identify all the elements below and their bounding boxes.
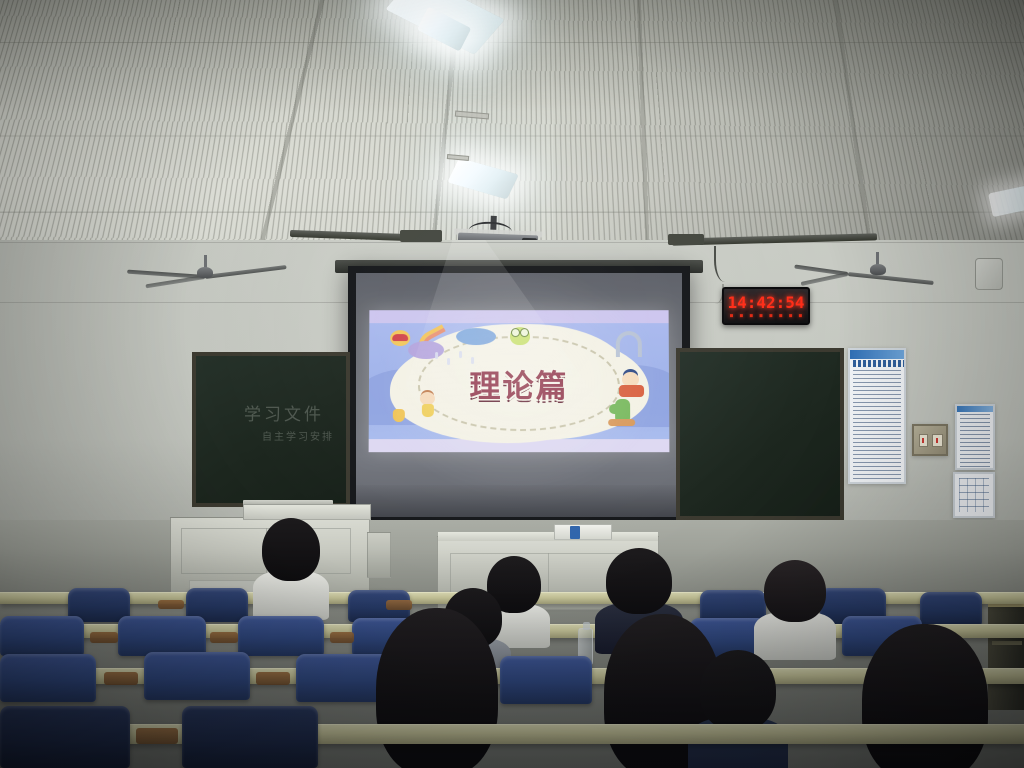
clock-indicator: ■ [730, 313, 733, 319]
seat[interactable] [500, 656, 592, 704]
purple-cloud-icon [408, 341, 444, 359]
ceiling [0, 0, 1024, 246]
rail-bracket [668, 234, 704, 245]
seat[interactable] [144, 652, 250, 700]
cabinet-top-surface [438, 532, 658, 541]
desk-tablet [256, 672, 290, 685]
fan-blade [205, 265, 287, 279]
blue-cloud-icon [456, 328, 496, 345]
podium-side-panel [367, 532, 391, 578]
frog-icon [510, 327, 530, 345]
raindrop-icon [459, 351, 462, 358]
clock-indicator: ■ [799, 313, 802, 319]
badge-icon [390, 329, 410, 345]
clock-indicator: ■ [760, 313, 763, 319]
poster-table-grid [959, 478, 989, 512]
raindrop-icon [435, 352, 438, 359]
ceiling-fan-right [800, 252, 955, 288]
seat[interactable] [0, 616, 84, 656]
rail-bracket [400, 230, 442, 242]
digital-clock: 14:42:54 ■ ■ ■ ■ ■ ■ ■ ■ [722, 287, 810, 325]
ceiling-fan-left [125, 255, 285, 291]
ceiling-shadow-top [0, 0, 1024, 113]
desk-tablet [104, 672, 138, 685]
fan-blade [145, 275, 205, 288]
fan-blade [801, 272, 849, 286]
classroom-scene: 理论篇 14:42:54 ■ ■ ■ ■ ■ ■ ■ ■ 学习文件 自主学习安排 [0, 0, 1024, 768]
outlet-slot [936, 438, 938, 443]
screen-lower-shadow [356, 485, 682, 517]
person-head [764, 560, 826, 622]
person-head [262, 518, 320, 581]
person-head [606, 548, 672, 614]
blackboard-left: 学习文件 自主学习安排 [192, 352, 350, 507]
desk-tablet [136, 728, 178, 744]
seat[interactable] [920, 592, 982, 626]
desk-tablet [330, 632, 354, 643]
seat[interactable] [0, 654, 96, 702]
fan-blade [848, 272, 934, 285]
seat[interactable] [238, 616, 324, 656]
poster-body-text [960, 414, 990, 470]
lamp-icon [393, 409, 405, 422]
seat[interactable] [118, 616, 206, 656]
wall-outlet-panel[interactable] [912, 424, 948, 456]
blackboard-right [676, 348, 844, 520]
white-box-on-cabinet [554, 524, 612, 540]
clock-indicator: ■ [750, 313, 753, 319]
arch-rainbow-icon [616, 331, 642, 357]
student-person [376, 608, 498, 768]
seat[interactable] [182, 706, 318, 768]
slide-top-band [369, 310, 668, 323]
wall-cable [714, 246, 732, 282]
student-person [862, 624, 988, 768]
desk-tablet [386, 600, 412, 610]
clock-indicator: ■ [779, 313, 782, 319]
clock-indicator: ■ [769, 313, 772, 319]
clock-indicator-row: ■ ■ ■ ■ ■ ■ ■ ■ [730, 313, 802, 319]
clock-indicator: ■ [740, 313, 743, 319]
fan-hub [870, 264, 886, 275]
projection-screen-surface: 理论篇 [356, 273, 682, 517]
seat[interactable] [0, 706, 130, 768]
person-head [700, 650, 776, 731]
desk-tablet [210, 632, 238, 643]
poster-title-text [853, 360, 905, 367]
poster-header-band [957, 406, 993, 412]
outlet-slot [922, 438, 924, 443]
chalk-text: 学习文件 [244, 400, 324, 425]
fan-hub [197, 267, 213, 278]
cabinet-door-divider [548, 553, 549, 595]
shelf-board [992, 641, 1022, 645]
wall-seam [0, 242, 1024, 243]
chalk-text: 自主学习安排 [262, 428, 334, 443]
student-person [262, 518, 320, 620]
blackboard-surface [680, 352, 840, 516]
clock-time-display: 14:42:54 [724, 293, 808, 312]
notice-poster-main [848, 348, 906, 484]
poster-header-band [850, 350, 904, 359]
slide-bottom-band [369, 438, 670, 451]
poster-body-text [853, 370, 901, 482]
projection-screen[interactable]: 理论篇 [348, 266, 690, 524]
notice-poster-small-2 [953, 472, 995, 518]
presentation-slide: 理论篇 [369, 310, 670, 451]
wall-speaker [975, 258, 1003, 290]
blue-item-on-cabinet [570, 526, 580, 539]
student-person [764, 560, 826, 660]
side-shelf [988, 602, 1024, 710]
slide-title: 理论篇 [369, 361, 669, 406]
student-person [700, 650, 776, 768]
desk-tablet [158, 600, 184, 609]
desk-tablet [90, 632, 118, 643]
clock-indicator: ■ [789, 313, 792, 319]
notice-poster-small-1 [955, 404, 995, 470]
